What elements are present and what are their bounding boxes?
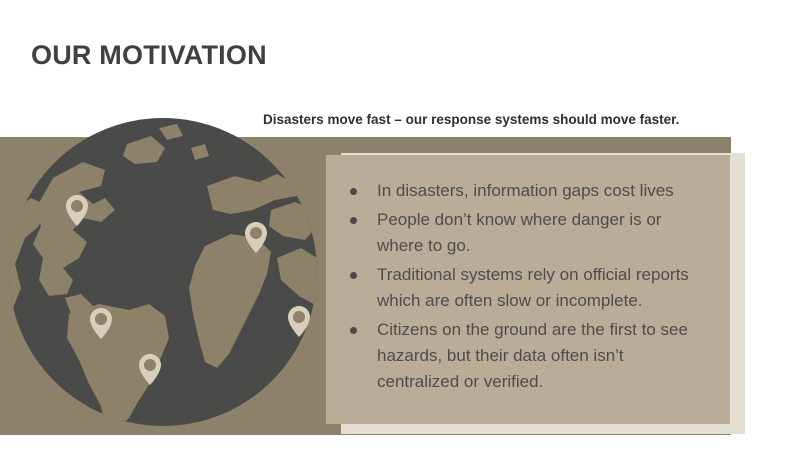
slide: OUR MOTIVATION [0,0,806,453]
bullet-dot-icon [350,327,357,334]
globe-illustration [9,118,317,426]
list-item: Citizens on the ground are the first to … [350,317,710,395]
list-item: People don’t know where danger is or whe… [350,207,710,259]
bullet-list: In disasters, information gaps cost live… [326,155,730,395]
content-panel: In disasters, information gaps cost live… [326,155,730,424]
subtitle-text: Disasters move fast – our response syste… [263,112,679,127]
list-item: Traditional systems rely on official rep… [350,262,710,314]
bullet-text: In disasters, information gaps cost live… [377,178,674,204]
list-item: In disasters, information gaps cost live… [350,178,710,204]
page-title: OUR MOTIVATION [31,40,267,71]
bullet-text: Traditional systems rely on official rep… [377,262,710,314]
bullet-text: Citizens on the ground are the first to … [377,317,710,395]
bullet-text: People don’t know where danger is or whe… [377,207,710,259]
bullet-dot-icon [350,188,357,195]
bullet-dot-icon [350,217,357,224]
bullet-dot-icon [350,272,357,279]
